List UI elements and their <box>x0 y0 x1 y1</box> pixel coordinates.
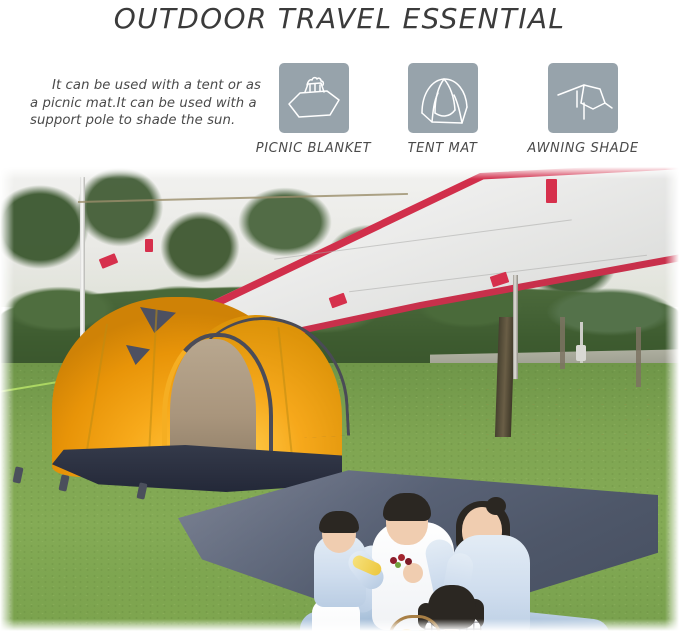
cherries <box>390 553 414 569</box>
yellow-dome-tent <box>52 297 342 492</box>
boy-hair <box>319 511 359 533</box>
tarp-tab-left <box>145 239 153 252</box>
tarp-center-pole <box>513 275 518 379</box>
lawn-debris <box>430 382 679 462</box>
father-hair <box>383 493 431 521</box>
tent-stake-left <box>58 474 69 491</box>
picnic-blanket-tile <box>279 63 349 133</box>
tent-icon <box>408 63 478 133</box>
photo-scene <box>0 167 679 631</box>
description-text: It can be used with a tent or as a picni… <box>30 77 262 130</box>
tarp-tab-top <box>546 179 557 203</box>
tent-mat-tile <box>408 63 478 133</box>
feature-label-awning-shade: AWNING SHADE <box>506 141 660 156</box>
page-title: OUTDOOR TRAVEL ESSENTIAL <box>0 2 679 35</box>
product-photo <box>0 167 679 631</box>
feature-item-picnic-blanket[interactable]: PICNIC BLANKET <box>248 63 379 156</box>
header-section: OUTDOOR TRAVEL ESSENTIAL It can be used … <box>0 0 679 167</box>
feature-item-awning-shade[interactable]: AWNING SHADE <box>506 63 660 156</box>
feature-label-picnic-blanket: PICNIC BLANKET <box>248 141 379 156</box>
awning-shade-tile <box>548 63 618 133</box>
picnic-blanket-icon <box>279 63 349 133</box>
feature-label-tent-mat: TENT MAT <box>388 141 497 156</box>
feature-item-tent-mat[interactable]: TENT MAT <box>388 63 497 156</box>
awning-shade-icon <box>548 63 618 133</box>
feature-list: PICNIC BLANKET TENT MAT <box>240 63 660 163</box>
mother-hair-bun <box>486 497 506 515</box>
